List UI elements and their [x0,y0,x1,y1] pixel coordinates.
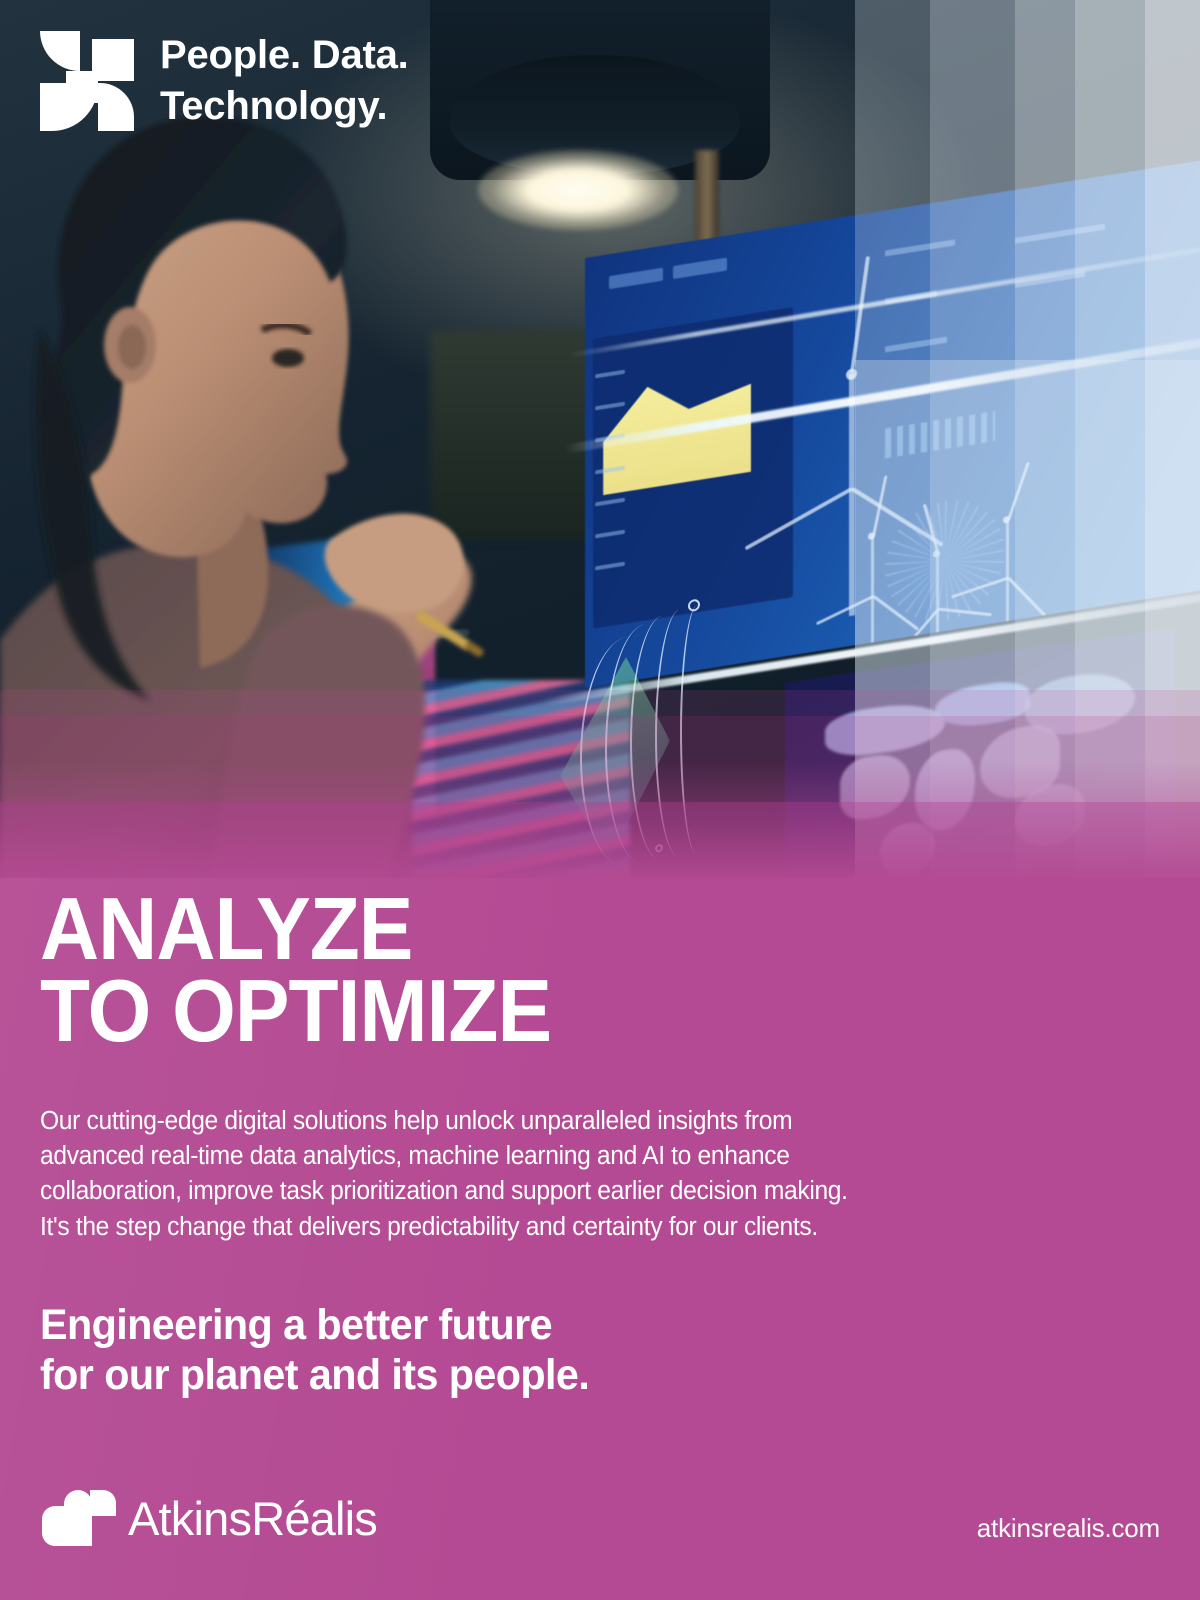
body-copy: Our cutting-edge digital solutions help … [40,1104,1063,1245]
brand-lockup-footer: AtkinsRéalis [42,1490,377,1546]
atkinsrealis-logo-mark-icon [40,31,136,131]
tagline-line-1: Engineering a better future [40,1300,589,1350]
body-line-2: advanced real-time data analytics, machi… [40,1139,1063,1174]
poster-root: People. Data. Technology. ANALYZE TO OPT… [0,0,1200,1600]
headline-line-1: ANALYZE [40,888,551,970]
body-line-1: Our cutting-edge digital solutions help … [40,1104,1063,1139]
body-line-4: It's the step change that delivers predi… [40,1210,1063,1245]
brand-lockup-top: People. Data. Technology. [40,30,409,132]
atkinsrealis-logo-mark-icon [42,1490,114,1546]
brand-tagline-top: People. Data. Technology. [160,30,409,132]
page-title: ANALYZE TO OPTIMIZE [40,888,551,1052]
person-photo [0,0,1200,900]
headline-line-2: TO OPTIMIZE [40,970,551,1052]
hero-photo [0,0,1200,900]
body-line-3: collaboration, improve task prioritizati… [40,1174,1063,1209]
tagline-line-2: for our planet and its people. [40,1350,589,1400]
brand-promise: Engineering a better future for our plan… [40,1300,589,1401]
website-url[interactable]: atkinsrealis.com [977,1513,1160,1544]
brand-name: AtkinsRéalis [128,1495,377,1542]
